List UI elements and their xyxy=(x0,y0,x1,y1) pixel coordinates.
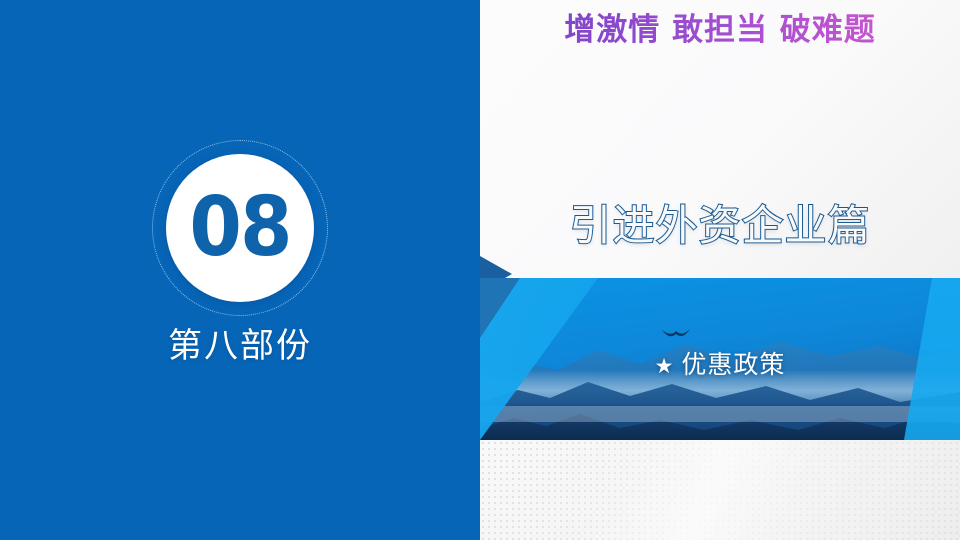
section-number-badge: 08 xyxy=(152,140,328,316)
star-icon: ★ xyxy=(655,354,675,378)
page-title: 引进外资企业篇 xyxy=(480,192,960,253)
halftone-map-fade-overlay xyxy=(480,440,960,540)
white-circle: 08 xyxy=(166,154,314,302)
header-slogan-text: 增激情 敢担当 破难题 xyxy=(480,4,960,49)
presentation-slide: 08 第八部份 增激情 敢担当 破难题 引进外资企业篇 xyxy=(0,0,960,540)
photo-caption-text: 优惠政策 xyxy=(681,350,785,379)
photo-caption: ★优惠政策 xyxy=(480,345,960,381)
section-label-text: 第八部份 xyxy=(0,318,480,367)
section-number-text: 08 xyxy=(189,187,290,269)
